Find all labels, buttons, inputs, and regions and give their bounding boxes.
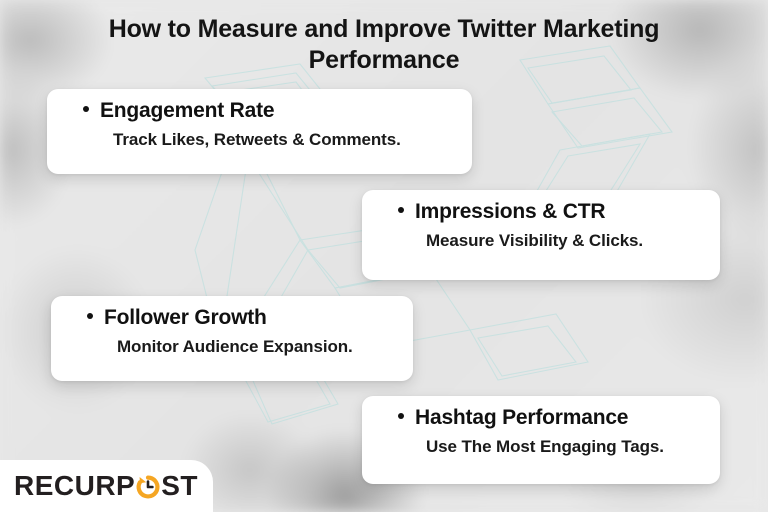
logo-text-after: ST: [161, 470, 198, 502]
clock-refresh-icon: [135, 474, 161, 500]
card-subtext: Measure Visibility & Clicks.: [380, 231, 702, 251]
metric-card-follower-growth[interactable]: Follower Growth Monitor Audience Expansi…: [51, 296, 413, 381]
card-heading: Follower Growth: [104, 306, 267, 330]
card-heading-row: Hashtag Performance: [380, 406, 702, 430]
card-heading: Impressions & CTR: [415, 200, 605, 224]
card-heading-row: Engagement Rate: [65, 99, 454, 123]
recurpost-logo[interactable]: RECURP ST: [0, 460, 213, 512]
bullet-icon: [398, 413, 404, 419]
bullet-icon: [87, 313, 93, 319]
card-subtext: Use The Most Engaging Tags.: [380, 437, 702, 457]
bullet-icon: [83, 106, 89, 112]
card-subtext: Track Likes, Retweets & Comments.: [65, 130, 454, 150]
card-heading: Engagement Rate: [100, 99, 274, 123]
card-heading: Hashtag Performance: [415, 406, 628, 430]
metric-card-impressions-ctr[interactable]: Impressions & CTR Measure Visibility & C…: [362, 190, 720, 280]
card-subtext: Monitor Audience Expansion.: [69, 337, 395, 357]
logo-text-before: RECURP: [14, 470, 135, 502]
card-heading-row: Follower Growth: [69, 306, 395, 330]
metric-card-hashtag-performance[interactable]: Hashtag Performance Use The Most Engagin…: [362, 396, 720, 484]
page-title: How to Measure and Improve Twitter Marke…: [64, 14, 704, 76]
logo-wordmark: RECURP ST: [14, 470, 198, 502]
card-heading-row: Impressions & CTR: [380, 200, 702, 224]
slide-canvas: How to Measure and Improve Twitter Marke…: [0, 0, 768, 512]
metric-card-engagement-rate[interactable]: Engagement Rate Track Likes, Retweets & …: [47, 89, 472, 174]
bullet-icon: [398, 207, 404, 213]
